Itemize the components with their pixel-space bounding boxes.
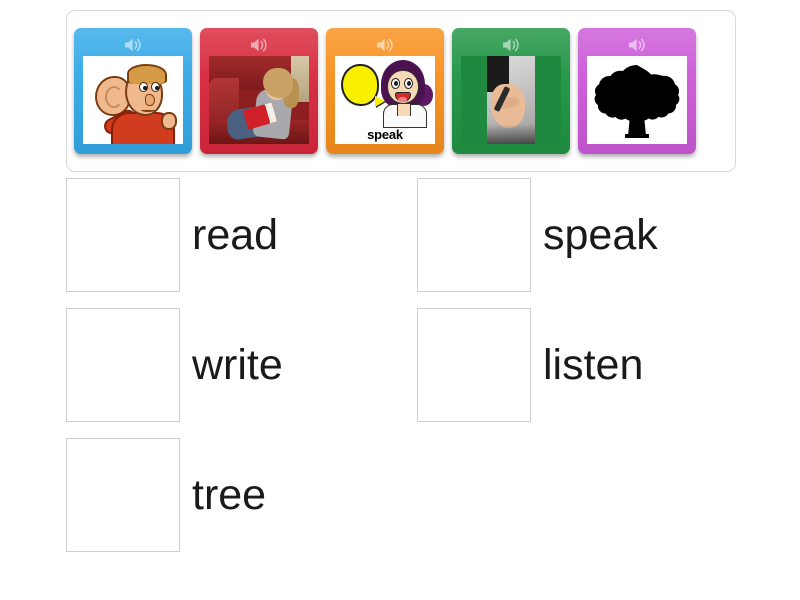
answer-label-read: read (192, 214, 278, 257)
answer-row-tree: tree (66, 438, 266, 552)
speaker-icon[interactable] (74, 34, 192, 56)
dropzone-tree[interactable] (66, 438, 180, 552)
activity-stage: speak (0, 0, 800, 600)
card-artwork-read (209, 56, 309, 144)
dropzone-read[interactable] (66, 178, 180, 292)
card-artwork-listen (83, 56, 183, 144)
speaker-icon[interactable] (326, 34, 444, 56)
audio-card-read[interactable] (200, 28, 318, 154)
answer-row-write: write (66, 308, 283, 422)
card-artwork-speak: speak (335, 56, 435, 144)
card-caption-speak: speak (335, 127, 435, 142)
dropzone-write[interactable] (66, 308, 180, 422)
audio-card-write[interactable] (452, 28, 570, 154)
audio-card-tray: speak (66, 10, 736, 172)
answer-row-read: read (66, 178, 278, 292)
card-artwork-write (461, 56, 561, 144)
answer-label-speak: speak (543, 214, 658, 257)
audio-card-listen[interactable] (74, 28, 192, 154)
answer-label-tree: tree (192, 474, 266, 517)
audio-card-tree[interactable] (578, 28, 696, 154)
speaker-icon[interactable] (452, 34, 570, 56)
answer-row-listen: listen (417, 308, 643, 422)
answer-label-write: write (192, 344, 283, 387)
answer-row-speak: speak (417, 178, 658, 292)
dropzone-listen[interactable] (417, 308, 531, 422)
speaker-icon[interactable] (578, 34, 696, 56)
card-artwork-tree (587, 56, 687, 144)
answer-label-listen: listen (543, 344, 643, 387)
dropzone-speak[interactable] (417, 178, 531, 292)
speaker-icon[interactable] (200, 34, 318, 56)
audio-card-speak[interactable]: speak (326, 28, 444, 154)
